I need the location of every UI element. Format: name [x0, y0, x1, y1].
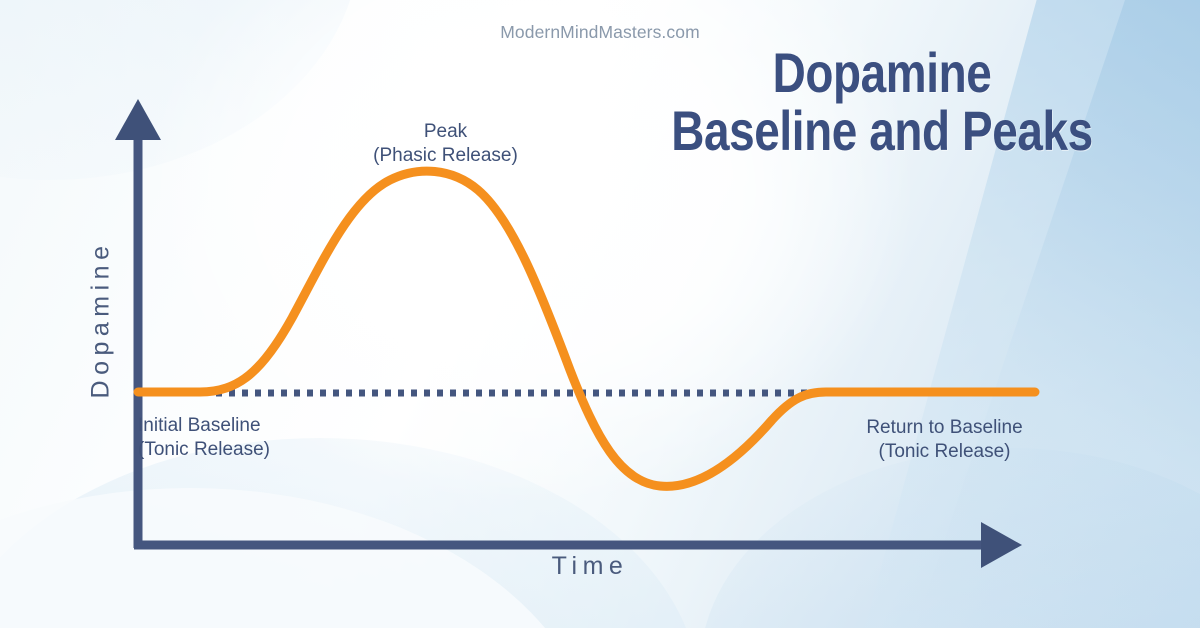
x-axis-label: Time	[460, 552, 720, 581]
annotation-initial-baseline: Initial Baseline (Tonic Release)	[138, 414, 368, 463]
annotation-return-to-baseline: Return to Baseline (Tonic Release)	[832, 416, 1057, 465]
annotation-return-to-baseline-title: Return to Baseline	[866, 417, 1022, 438]
annotation-peak-subtitle: (Phasic Release)	[343, 144, 548, 168]
y-axis	[115, 99, 161, 548]
annotation-peak: Peak (Phasic Release)	[343, 120, 548, 169]
annotation-initial-baseline-subtitle: (Tonic Release)	[138, 438, 368, 462]
dopamine-curve-chart	[0, 0, 1200, 628]
annotation-peak-title: Peak	[424, 121, 467, 142]
annotation-return-to-baseline-subtitle: (Tonic Release)	[832, 440, 1057, 464]
y-axis-label: Dopamine	[87, 205, 116, 435]
infographic-canvas: ModernMindMasters.com Dopamine Baseline …	[0, 0, 1200, 628]
annotation-initial-baseline-title: Initial Baseline	[138, 415, 261, 436]
